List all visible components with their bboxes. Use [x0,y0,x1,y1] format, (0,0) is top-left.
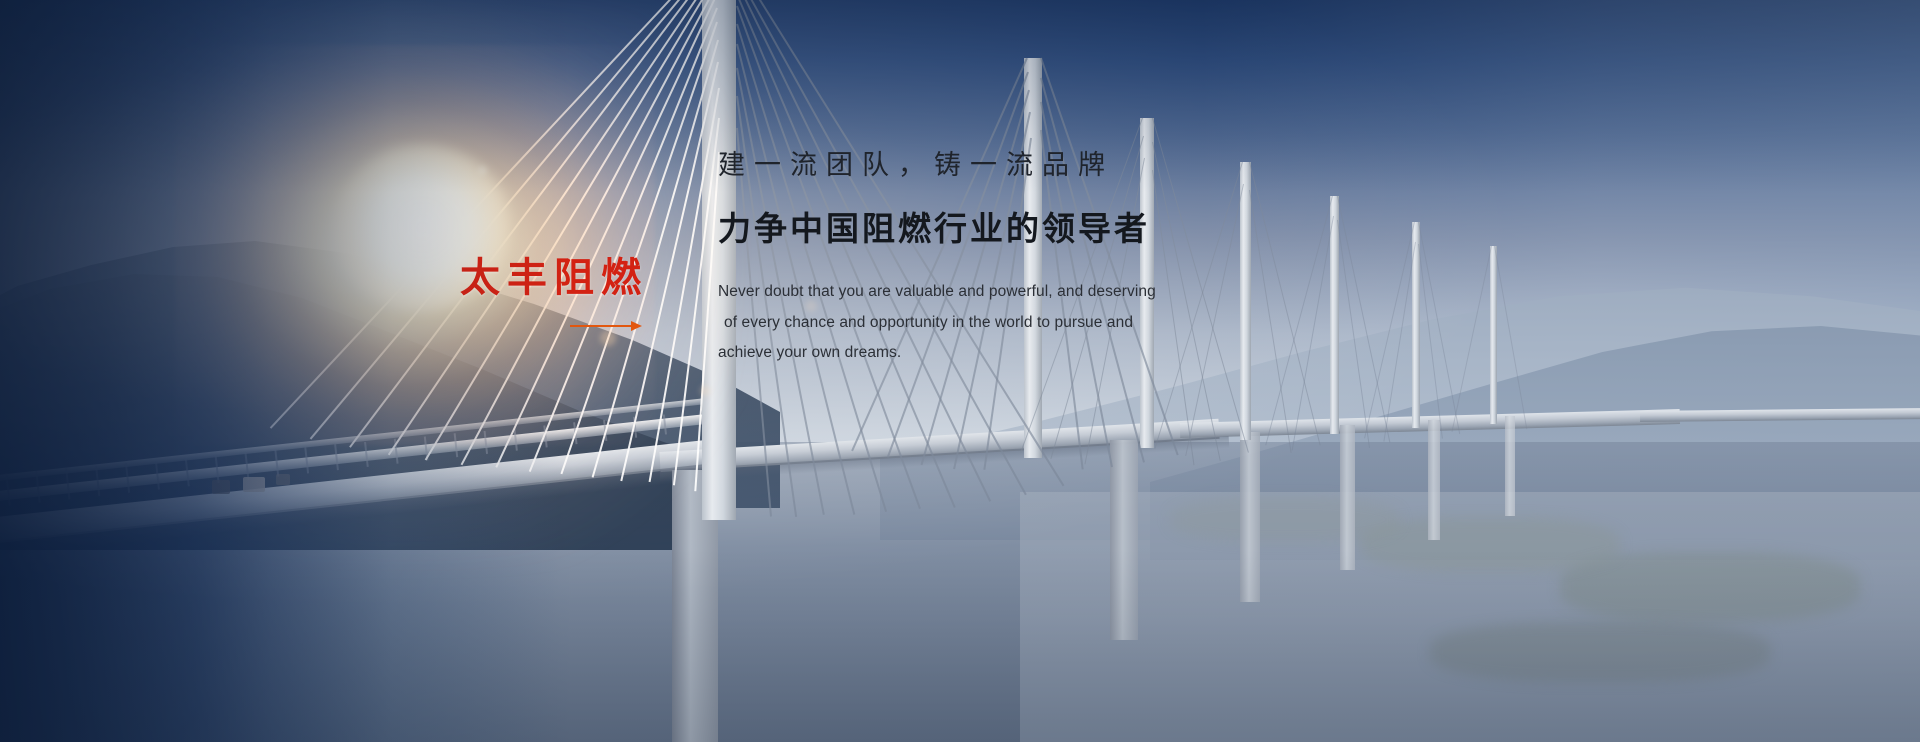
description-line-1: Never doubt that you are valuable and po… [718,277,1188,307]
banner-tagline: 建一流团队，铸一流品牌 [718,148,1418,184]
brand-logo[interactable]: 太丰阻燃 [460,258,660,330]
banner-text-block: 建一流团队，铸一流品牌 力争中国阻燃行业的领导者 Never doubt tha… [718,148,1418,368]
banner-content: 太丰阻燃 建一流团队，铸一流品牌 力争中国阻燃行业的领导者 Never doub… [0,0,1920,742]
logo-text: 太丰阻燃 [460,258,660,298]
banner-description: Never doubt that you are valuable and po… [718,277,1188,368]
description-line-3: achieve your own dreams. [718,338,1188,368]
hero-banner: 太丰阻燃 建一流团队，铸一流品牌 力争中国阻燃行业的领导者 Never doub… [0,0,1920,742]
description-line-2: of every chance and opportunity in the w… [718,308,1188,338]
banner-headline: 力争中国阻燃行业的领导者 [718,208,1418,251]
right-arrow-icon [570,320,642,330]
